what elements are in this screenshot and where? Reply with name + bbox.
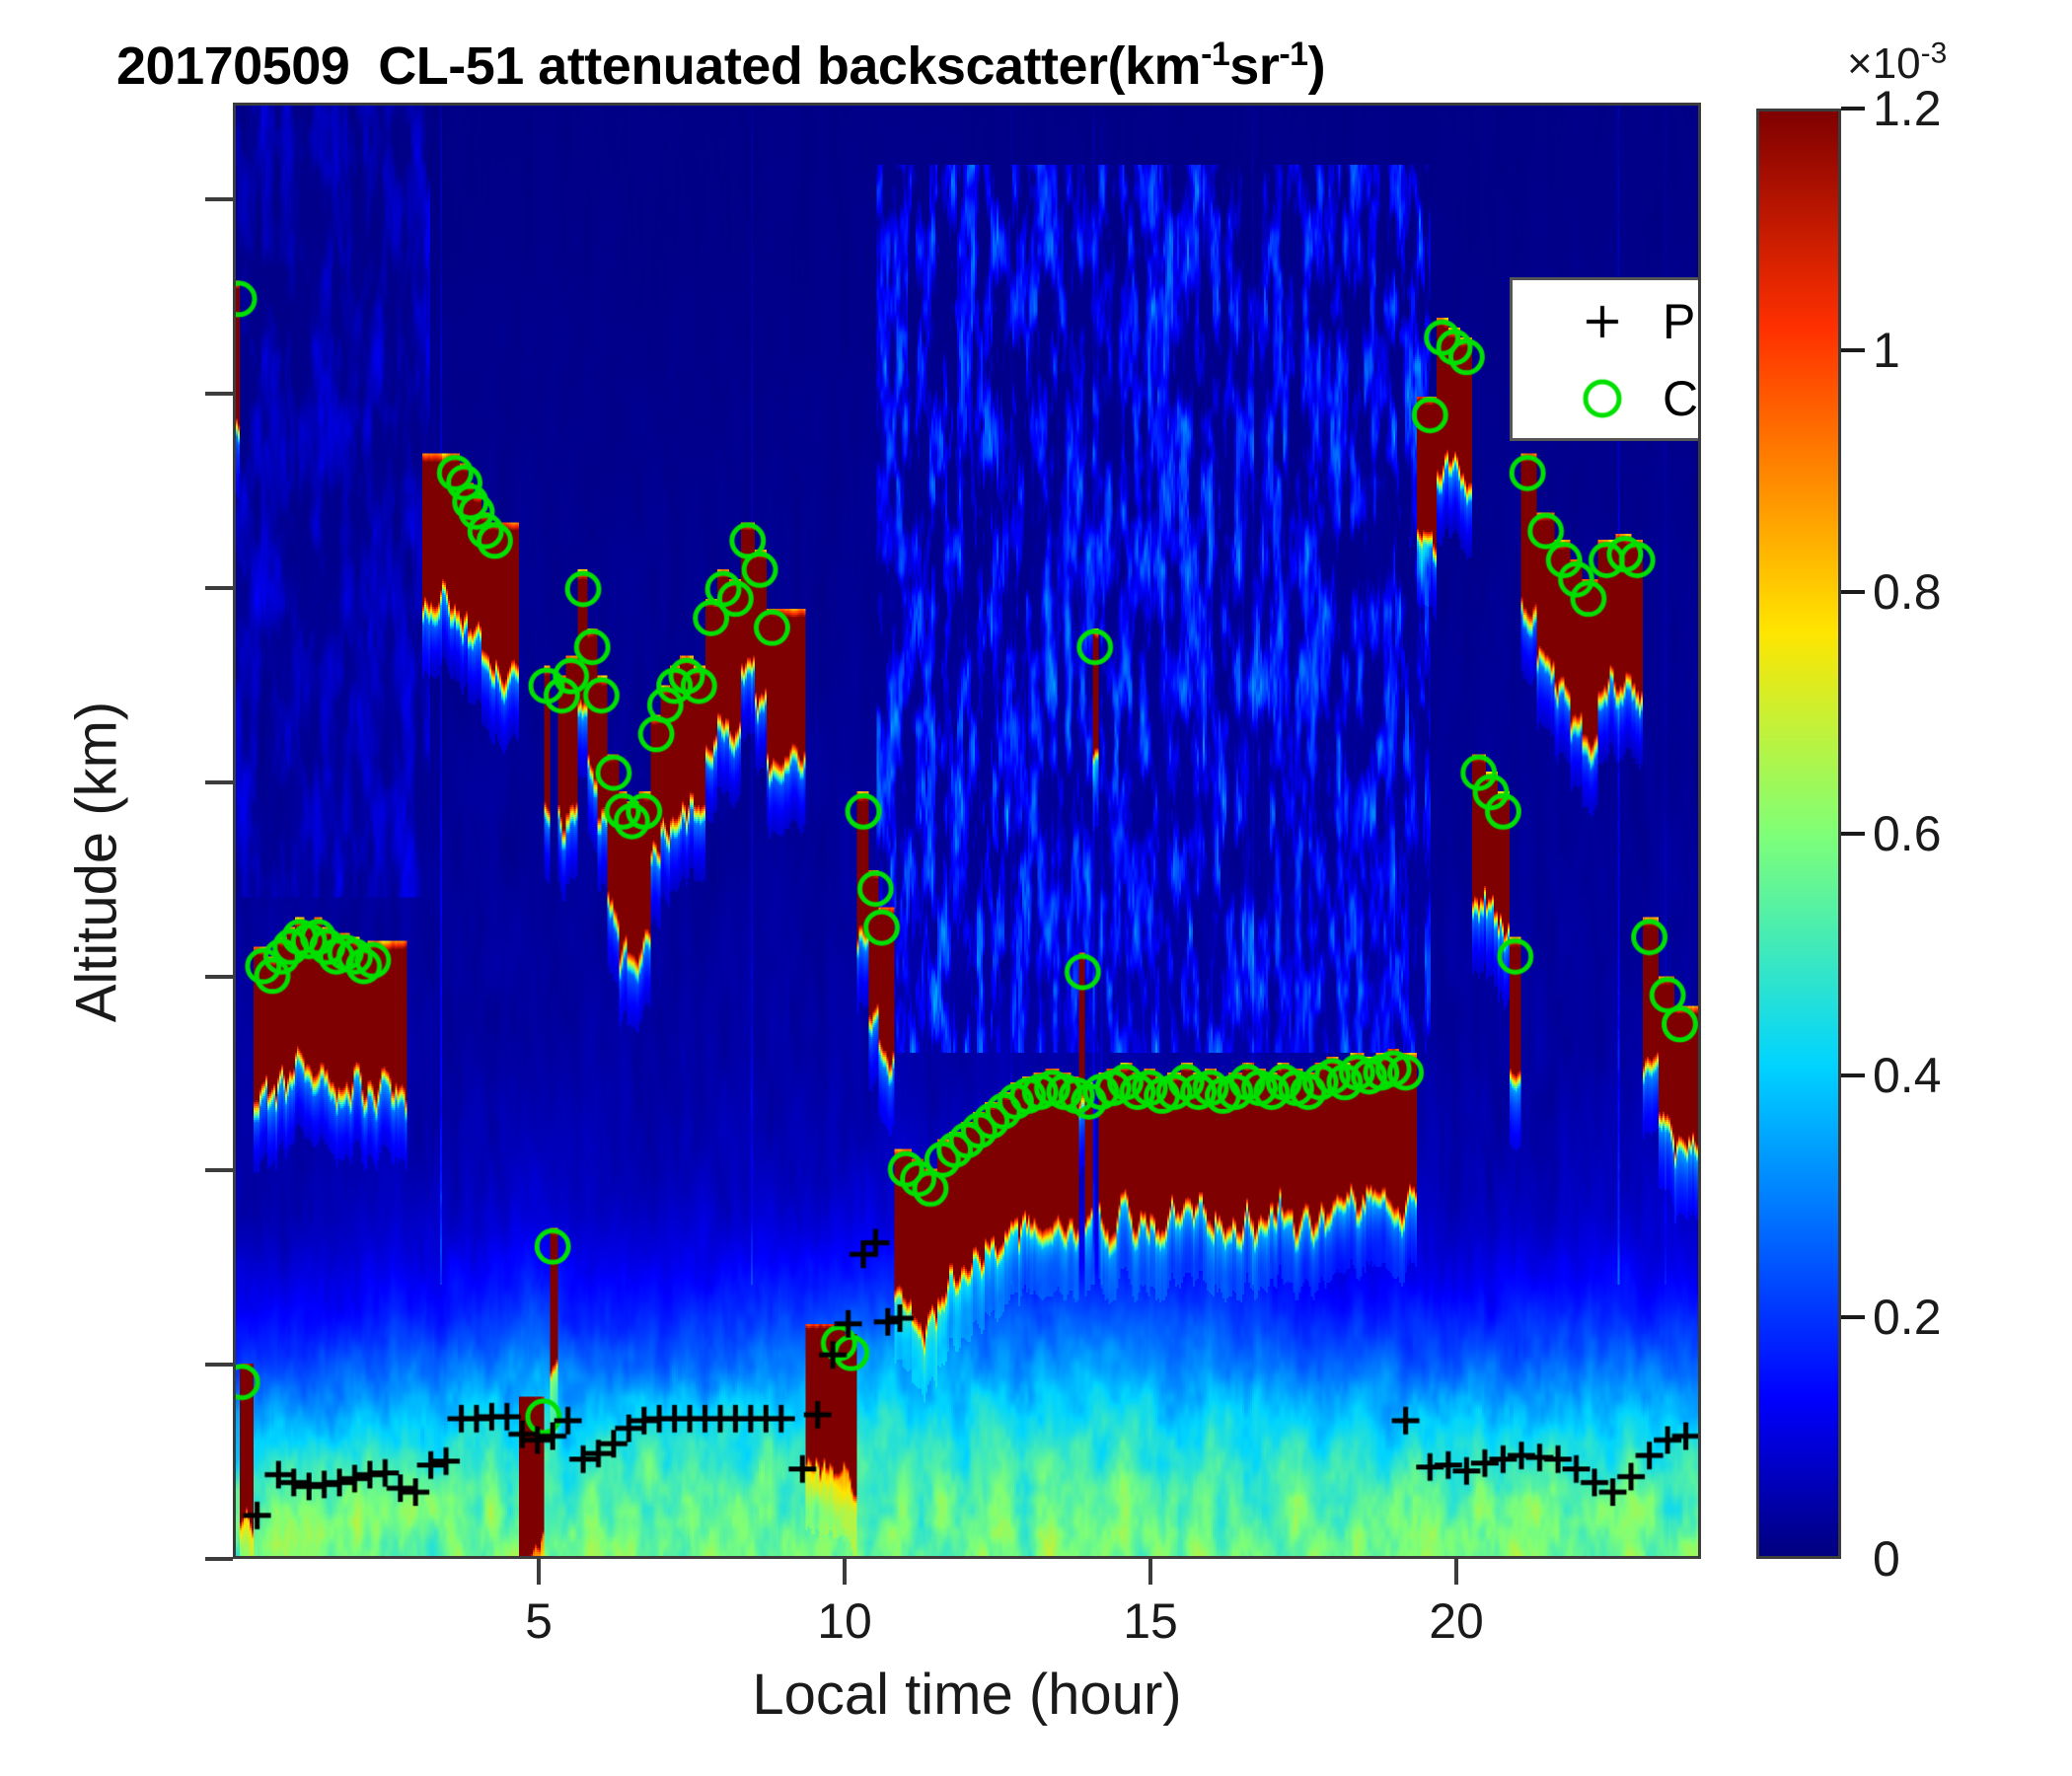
colorbar-tick-label: 0 [1873, 1530, 1900, 1588]
heatmap-plot-area[interactable]: PBL-top Cloud-z [233, 103, 1701, 1559]
y-tick-mark [205, 975, 233, 979]
x-tick-label: 5 [525, 1592, 553, 1650]
colorbar[interactable] [1756, 109, 1841, 1559]
colorbar-tick-mark [1841, 107, 1865, 111]
x-tick-mark [1148, 1559, 1152, 1585]
y-tick-mark [205, 586, 233, 590]
x-tick-label: 15 [1123, 1592, 1178, 1650]
marker-overlay [236, 106, 1698, 1556]
x-axis-title: Local time (hour) [233, 1662, 1701, 1728]
x-tick-mark [843, 1559, 847, 1585]
figure-canvas: 20170509 CL-51 attenuated backscatter(km… [0, 0, 2072, 1776]
colorbar-tick-label: 0.6 [1873, 805, 1942, 862]
x-tick-mark [1454, 1559, 1458, 1585]
x-tick-label: 20 [1429, 1592, 1484, 1650]
colorbar-tick-label: 1 [1873, 322, 1900, 379]
y-axis-title: Altitude (km) [64, 586, 130, 1139]
colorbar-gradient [1759, 111, 1838, 1556]
y-tick-mark [205, 1168, 233, 1172]
y-tick-mark [205, 197, 233, 201]
colorbar-tick-mark [1841, 1073, 1865, 1077]
colorbar-tick-mark [1841, 832, 1865, 836]
colorbar-tick-mark [1841, 348, 1865, 352]
colorbar-tick-label: 1.2 [1873, 80, 1942, 137]
colorbar-tick-label: 0.2 [1873, 1289, 1942, 1346]
x-tick-label: 10 [817, 1592, 872, 1650]
y-tick-mark [205, 780, 233, 784]
plus-icon [1560, 284, 1645, 359]
y-tick-mark [205, 392, 233, 396]
circle-icon [1560, 361, 1645, 436]
y-tick-mark [205, 1363, 233, 1367]
colorbar-tick-mark [1841, 590, 1865, 594]
legend-label-cloud-z: Cloud-z [1663, 361, 1701, 436]
colorbar-tick-mark [1841, 1315, 1865, 1319]
legend-entry-pbl-top[interactable]: PBL-top [1513, 284, 1701, 359]
colorbar-tick-label: 0.4 [1873, 1047, 1942, 1104]
x-tick-mark [537, 1559, 541, 1585]
legend-box[interactable]: PBL-top Cloud-z [1510, 277, 1701, 441]
y-tick-mark [205, 1557, 233, 1561]
legend-label-pbl-top: PBL-top [1663, 284, 1701, 359]
figure-title: 20170509 CL-51 attenuated backscatter(km… [116, 36, 1325, 97]
colorbar-tick-label: 0.8 [1873, 563, 1942, 621]
legend-entry-cloud-z[interactable]: Cloud-z [1513, 361, 1701, 436]
